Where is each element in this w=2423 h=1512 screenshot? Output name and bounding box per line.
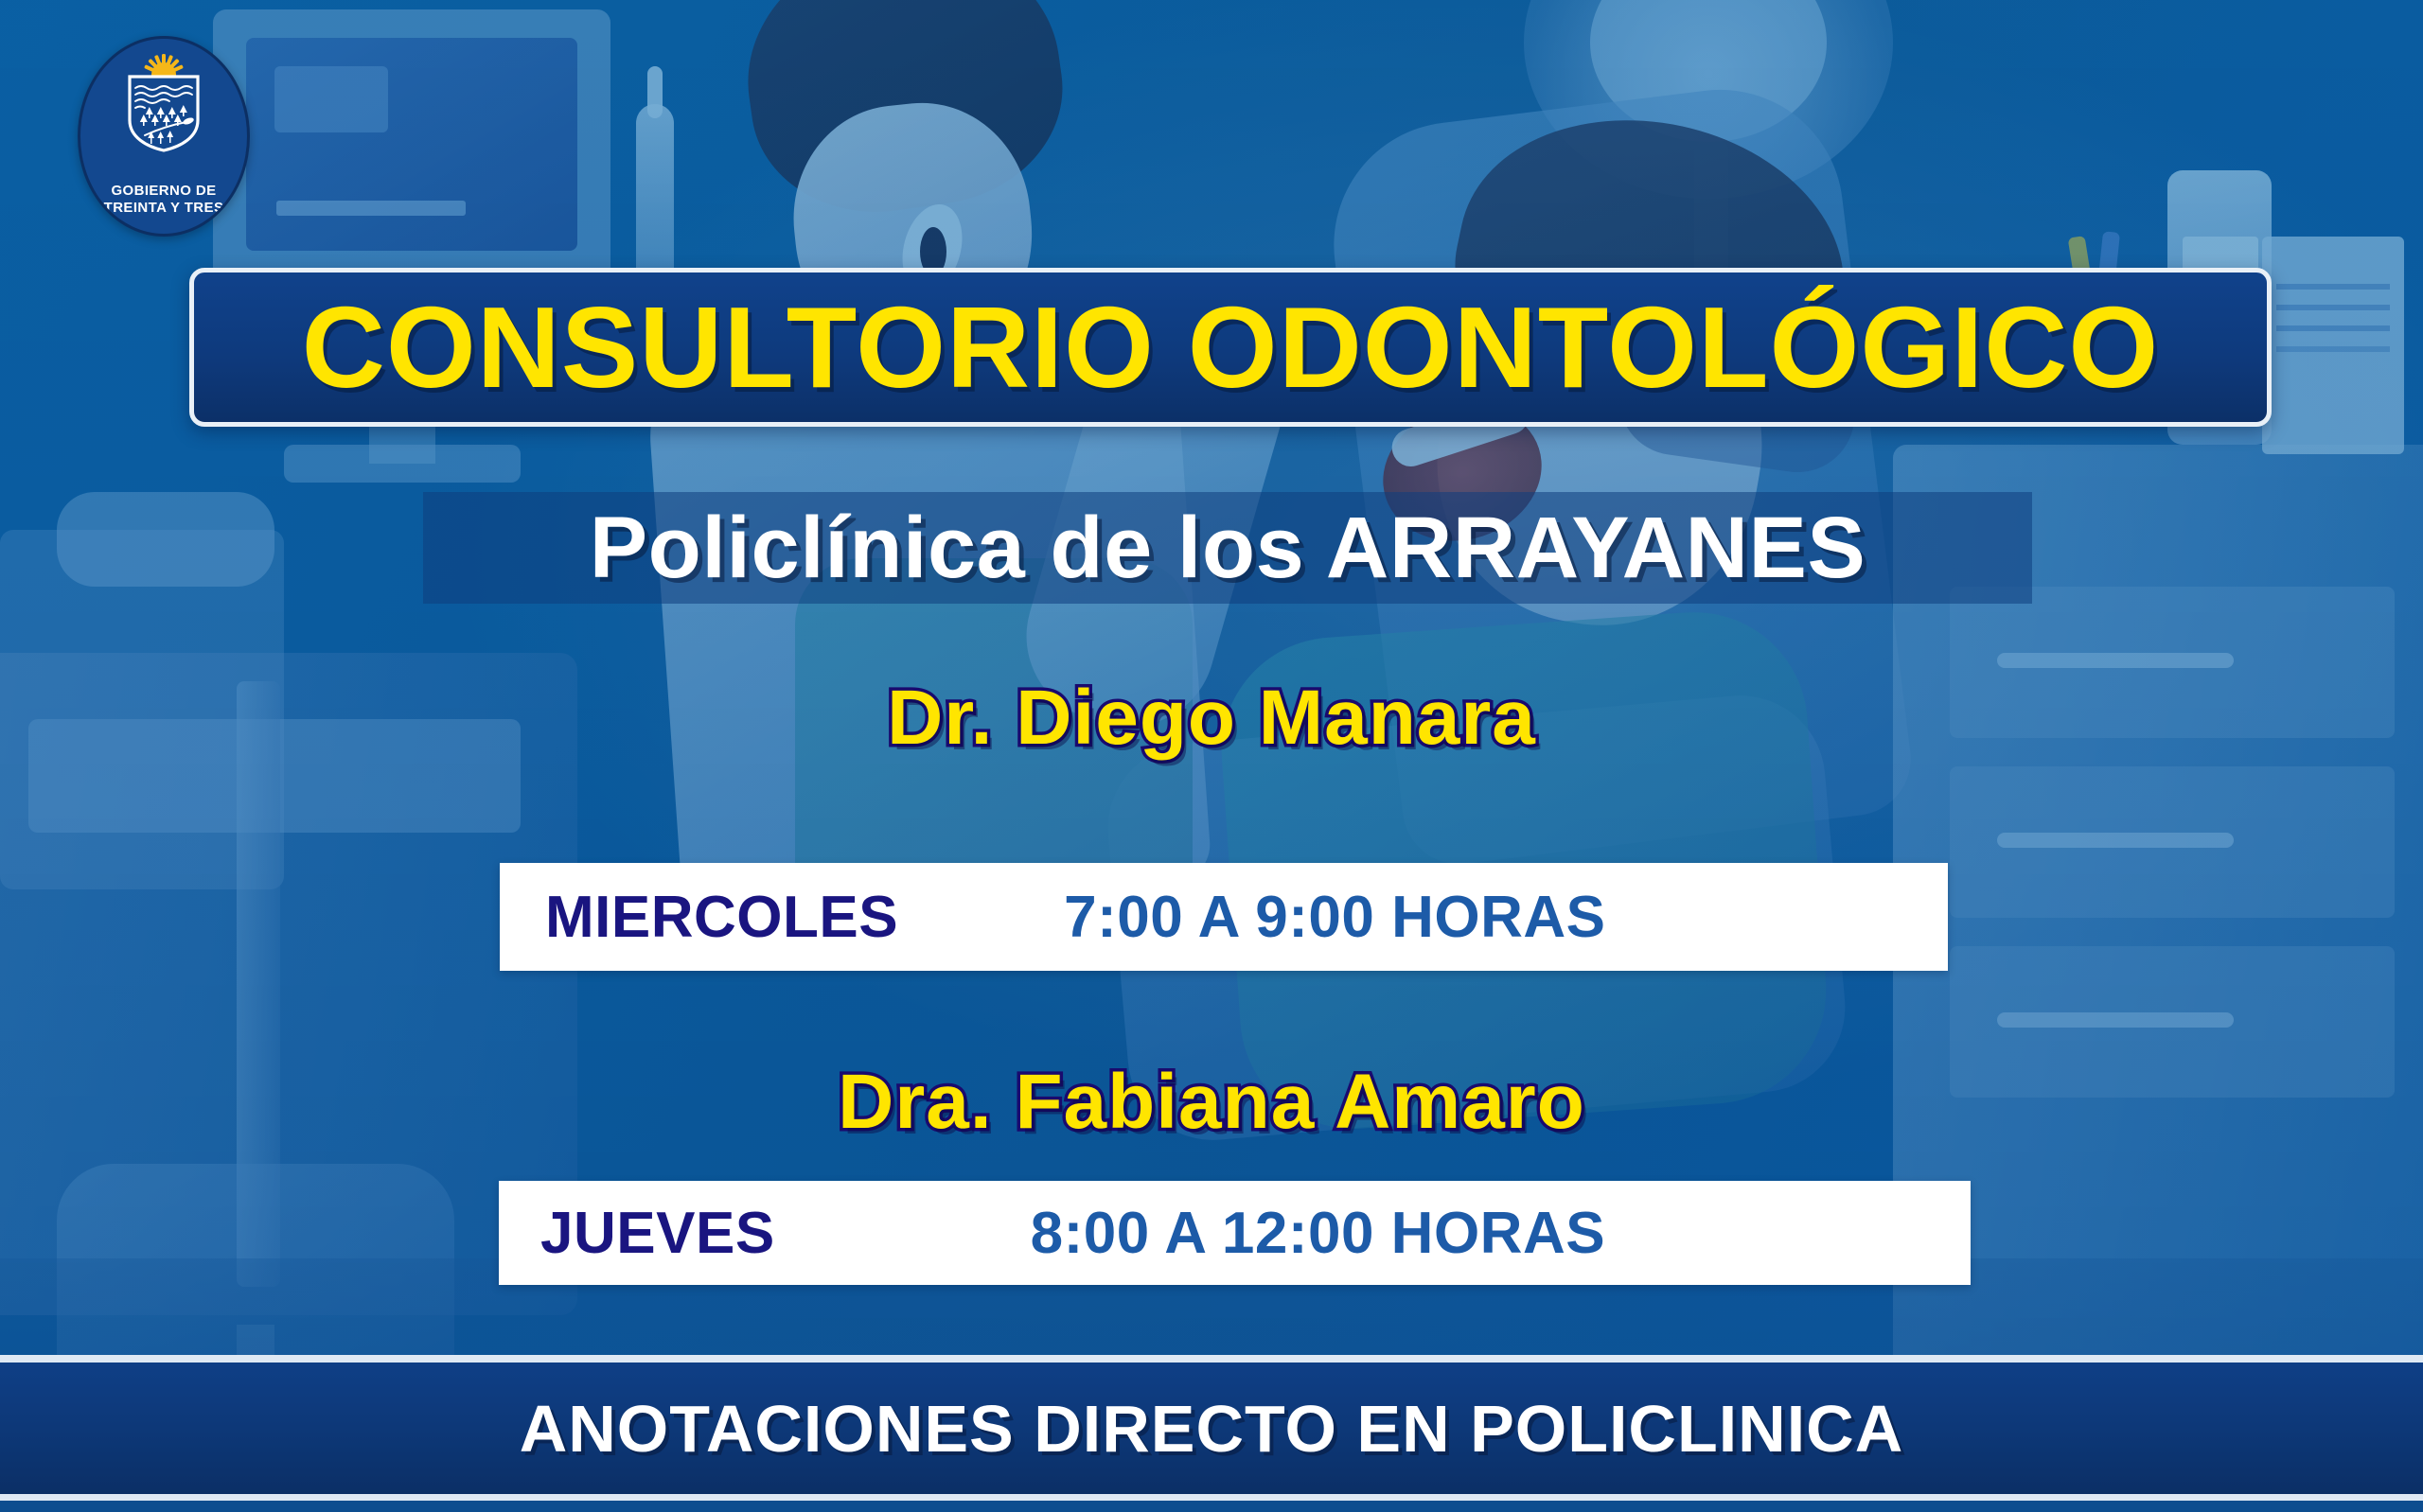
subtitle-band: Policlínica de los ARRAYANES: [423, 492, 2032, 604]
title-banner: CONSULTORIO ODONTOLÓGICO: [189, 268, 2272, 427]
footer-banner: ANOTACIONES DIRECTO EN POLICLINICA: [0, 1355, 2423, 1501]
coat-of-arms-icon: [80, 52, 247, 183]
schedule-row-2: JUEVES 8:00 A 12:00 HORAS: [499, 1181, 1971, 1285]
doctor-name-2: Dra. Fabiana Amaro: [0, 1058, 2423, 1147]
poster-canvas: GOBIERNO DE TREINTA Y TRES CONSULTORIO O…: [0, 0, 2423, 1512]
clinic-name: Policlínica de los ARRAYANES: [590, 499, 1866, 598]
government-logo: GOBIERNO DE TREINTA Y TRES: [78, 36, 250, 237]
doctor-name-1: Dr. Diego Manara: [0, 674, 2423, 763]
schedule-day-1: MIERCOLES: [545, 884, 898, 951]
footer-bottom-strip: [0, 1501, 2423, 1512]
schedule-row-1: MIERCOLES 7:00 A 9:00 HORAS: [500, 863, 1948, 971]
schedule-hours-2: 8:00 A 12:00 HORAS: [1031, 1200, 1605, 1267]
page-title: CONSULTORIO ODONTOLÓGICO: [302, 290, 2159, 405]
logo-line-1: GOBIERNO DE: [86, 183, 241, 200]
schedule-day-2: JUEVES: [540, 1200, 775, 1267]
schedule-hours-1: 7:00 A 9:00 HORAS: [1064, 884, 1605, 951]
footer-note: ANOTACIONES DIRECTO EN POLICLINICA: [520, 1391, 1904, 1467]
